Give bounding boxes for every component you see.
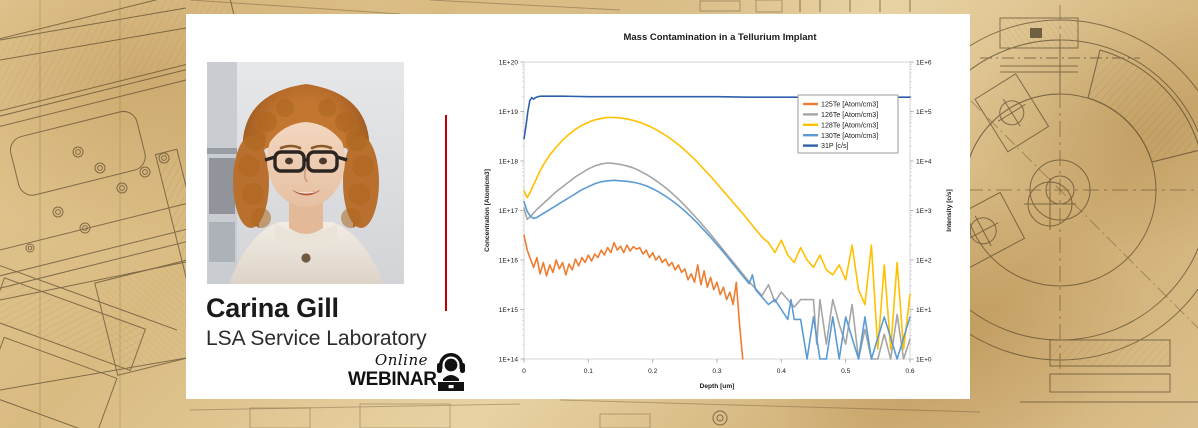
content-card: Carina Gill LSA Service Laboratory Onlin… — [186, 14, 970, 399]
svg-text:128Te [Atom/cm3]: 128Te [Atom/cm3] — [821, 121, 878, 129]
svg-text:130Te [Atom/cm3]: 130Te [Atom/cm3] — [821, 132, 878, 140]
svg-text:1E+1: 1E+1 — [916, 307, 932, 314]
svg-text:Intensity [c/s]: Intensity [c/s] — [946, 189, 953, 232]
svg-text:1E+0: 1E+0 — [916, 356, 932, 363]
webinar-bold-word: WEBINAR — [348, 369, 428, 391]
svg-text:0.1: 0.1 — [584, 368, 593, 375]
svg-text:Concentration [Atom/cm3]: Concentration [Atom/cm3] — [484, 169, 491, 252]
svg-text:1E+14: 1E+14 — [499, 356, 519, 363]
svg-text:0.4: 0.4 — [777, 368, 786, 375]
svg-text:1E+3: 1E+3 — [916, 208, 932, 215]
svg-text:Depth [um]: Depth [um] — [700, 383, 735, 390]
speaker-name: Carina Gill — [206, 293, 339, 324]
svg-text:0.2: 0.2 — [648, 368, 657, 375]
svg-text:0: 0 — [522, 368, 526, 375]
svg-text:1E+20: 1E+20 — [499, 59, 519, 66]
svg-text:126Te [Atom/cm3]: 126Te [Atom/cm3] — [821, 111, 878, 119]
svg-text:1E+2: 1E+2 — [916, 257, 932, 264]
headset-person-laptop-icon — [434, 349, 468, 393]
slide-canvas: Carina Gill LSA Service Laboratory Onlin… — [0, 0, 1198, 428]
svg-text:1E+4: 1E+4 — [916, 158, 932, 165]
svg-text:0.3: 0.3 — [712, 368, 721, 375]
svg-text:1E+19: 1E+19 — [499, 109, 519, 116]
speaker-affiliation: LSA Service Laboratory — [206, 327, 427, 351]
svg-text:1E+6: 1E+6 — [916, 59, 932, 66]
chart-plot-area: 1E+141E+151E+161E+171E+181E+191E+201E+01… — [478, 32, 962, 392]
svg-text:0.5: 0.5 — [841, 368, 850, 375]
svg-text:1E+5: 1E+5 — [916, 109, 932, 116]
svg-text:1E+16: 1E+16 — [499, 257, 519, 264]
svg-text:1E+17: 1E+17 — [499, 208, 519, 215]
svg-text:31P [c/s]: 31P [c/s] — [821, 142, 849, 150]
speaker-photo — [207, 62, 404, 284]
vertical-divider — [445, 115, 447, 311]
svg-text:0.6: 0.6 — [905, 368, 914, 375]
svg-text:1E+18: 1E+18 — [499, 158, 519, 165]
webinar-script-word: Online — [350, 351, 428, 369]
svg-text:1E+15: 1E+15 — [499, 307, 519, 314]
sims-depth-profile-chart: Mass Contamination in a Tellurium Implan… — [478, 32, 962, 392]
online-webinar-logo: Online WEBINAR — [350, 349, 465, 397]
svg-text:125Te [Atom/cm3]: 125Te [Atom/cm3] — [821, 101, 878, 109]
